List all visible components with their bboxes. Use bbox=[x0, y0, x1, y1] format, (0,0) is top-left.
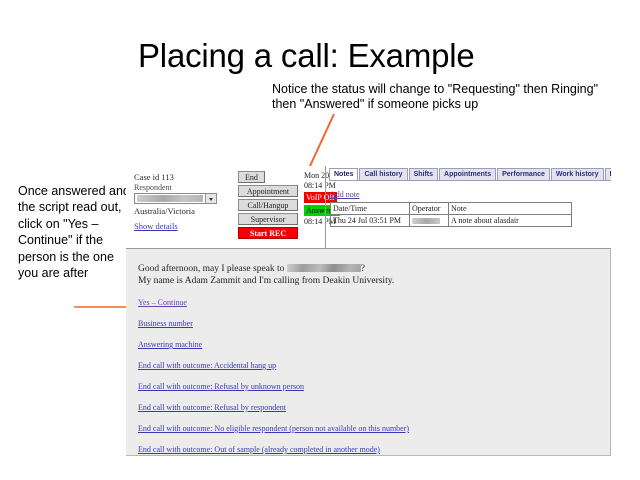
tab-shifts[interactable]: Shifts bbox=[409, 168, 438, 180]
link-no-eligible-respondent[interactable]: End call with outcome: No eligible respo… bbox=[138, 424, 409, 434]
respondent-select[interactable] bbox=[134, 193, 217, 204]
link-accidental-hang-up[interactable]: End call with outcome: Accidental hang u… bbox=[138, 361, 276, 371]
supervisor-button[interactable]: Supervisor bbox=[238, 213, 298, 225]
appointment-button[interactable]: Appointment bbox=[238, 185, 298, 197]
link-refusal-respondent[interactable]: End call with outcome: Refusal by respon… bbox=[138, 403, 286, 413]
page-title: Placing a call: Example bbox=[138, 36, 475, 76]
script-greeting-suffix: ? bbox=[361, 264, 365, 274]
cell-datetime: Thu 24 Jul 03:51 PM bbox=[331, 215, 410, 227]
script-intro-line: My name is Adam Zammit and I'm calling f… bbox=[138, 275, 610, 287]
column-header-note: Note bbox=[449, 203, 572, 215]
column-header-datetime: Date/Time bbox=[331, 203, 410, 215]
notes-table: Date/Time Operator Note Thu 24 Jul 03:51… bbox=[330, 202, 572, 227]
script-greeting-prefix: Good afternoon, may I please speak to bbox=[138, 264, 287, 274]
table-header-row: Date/Time Operator Note bbox=[331, 203, 572, 215]
link-answering-machine[interactable]: Answering machine bbox=[138, 340, 202, 350]
chevron-down-icon[interactable] bbox=[205, 194, 216, 203]
tab-work-history[interactable]: Work history bbox=[551, 168, 604, 180]
link-yes-continue[interactable]: Yes – Continue bbox=[138, 298, 187, 308]
tab-performance[interactable]: Performance bbox=[497, 168, 550, 180]
tab-info[interactable]: Info bbox=[605, 168, 611, 180]
link-out-of-sample[interactable]: End call with outcome: Out of sample (al… bbox=[138, 445, 380, 455]
cell-note: A note about alasdair bbox=[449, 215, 572, 227]
operator-redacted bbox=[412, 218, 440, 224]
script-greeting-line: Good afternoon, may I please speak to ? bbox=[138, 263, 610, 275]
case-id-label: Case id 113 bbox=[134, 172, 238, 182]
app-top-toolbar: Case id 113 Respondent Australia/Victori… bbox=[126, 166, 611, 249]
end-button[interactable]: End bbox=[238, 171, 265, 183]
link-business-number[interactable]: Business number bbox=[138, 319, 193, 329]
tab-appointments[interactable]: Appointments bbox=[439, 168, 496, 180]
tab-panel: Notes Call history Shifts Appointments P… bbox=[329, 168, 611, 248]
panel-divider bbox=[325, 166, 326, 248]
show-details-link[interactable]: Show details bbox=[134, 221, 178, 231]
notes-tab-body: Add note Date/Time Operator Note Thu 24 … bbox=[329, 180, 611, 227]
cell-operator bbox=[410, 215, 449, 227]
call-action-buttons: End Appointment Call/Hangup Supervisor S… bbox=[238, 171, 300, 241]
annotation-status-change: Notice the status will change to "Reques… bbox=[272, 82, 602, 112]
tab-call-history[interactable]: Call history bbox=[359, 168, 407, 180]
script-outcome-links: Yes – Continue Business number Answering… bbox=[138, 298, 610, 455]
respondent-value-redacted bbox=[137, 195, 203, 202]
add-note-link[interactable]: Add note bbox=[330, 190, 360, 199]
tab-notes[interactable]: Notes bbox=[329, 168, 358, 180]
respondent-name-redacted bbox=[287, 264, 361, 272]
app-screenshot: Case id 113 Respondent Australia/Victori… bbox=[126, 166, 611, 456]
respondent-label: Respondent bbox=[134, 183, 238, 192]
annotation-yes-continue: Once answered and the script read out, c… bbox=[18, 183, 130, 281]
column-header-operator: Operator bbox=[410, 203, 449, 215]
call-hangup-button[interactable]: Call/Hangup bbox=[238, 199, 298, 211]
start-rec-button[interactable]: Start REC bbox=[238, 227, 298, 239]
table-row[interactable]: Thu 24 Jul 03:51 PM A note about alasdai… bbox=[331, 215, 572, 227]
link-refusal-unknown-person[interactable]: End call with outcome: Refusal by unknow… bbox=[138, 382, 304, 392]
case-locale: Australia/Victoria bbox=[134, 206, 238, 216]
case-info-block: Case id 113 Respondent Australia/Victori… bbox=[134, 172, 238, 234]
tab-strip: Notes Call history Shifts Appointments P… bbox=[329, 168, 611, 180]
script-pane: Good afternoon, may I please speak to ? … bbox=[126, 249, 611, 456]
